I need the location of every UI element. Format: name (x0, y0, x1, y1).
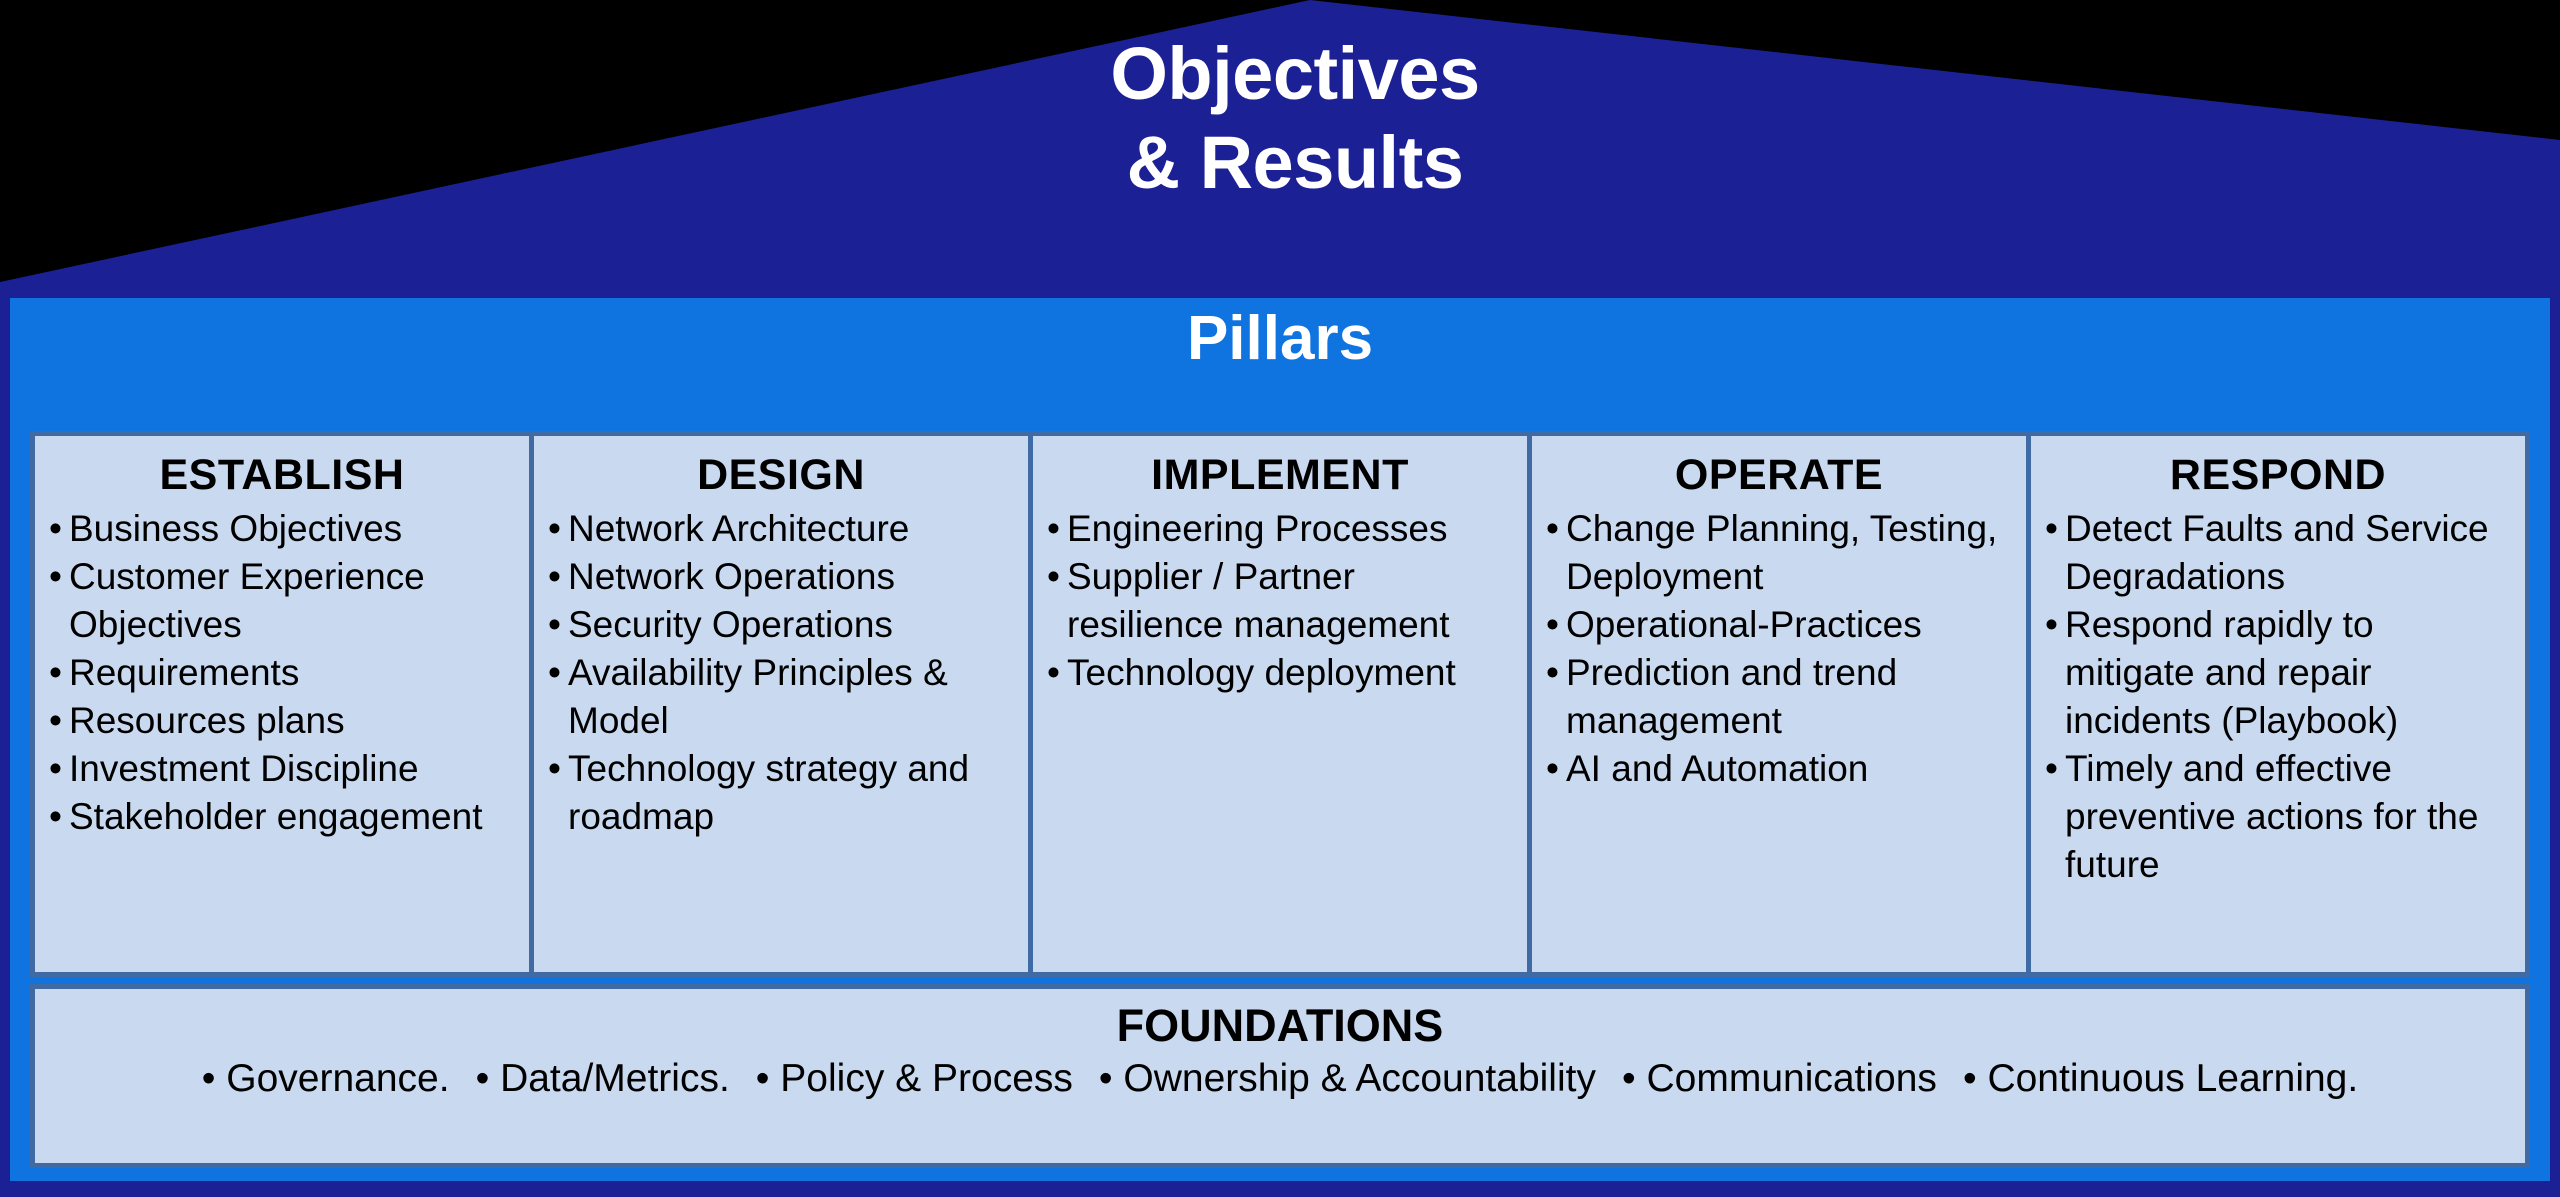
foundation-item: Policy & Process (756, 1054, 1073, 1105)
list-item: Stakeholder engagement (49, 793, 515, 841)
pillar-heading: IMPLEMENT (1047, 450, 1513, 501)
roof-title: Objectives & Results (0, 30, 2560, 208)
list-item: Technology deployment (1047, 649, 1513, 697)
list-item: Resources plans (49, 697, 515, 745)
list-item: Network Architecture (548, 505, 1014, 553)
foundation-item: Continuous Learning. (1963, 1054, 2358, 1105)
list-item: Business Objectives (49, 505, 515, 553)
list-item: Requirements (49, 649, 515, 697)
list-item: Timely and effective preventive actions … (2045, 745, 2511, 889)
list-item: Availability Principles & Model (548, 649, 1014, 745)
list-item: Operational-Practices (1546, 601, 2012, 649)
pillars-title: Pillars (10, 308, 2550, 370)
pillar-heading: DESIGN (548, 450, 1014, 501)
pillar-row: ESTABLISH Business Objectives Customer E… (30, 431, 2530, 977)
foundation-item: Governance. (202, 1054, 450, 1105)
foundation-item: Data/Metrics. (476, 1054, 730, 1105)
roof-title-line-1: Objectives (30, 30, 2560, 119)
list-item: Prediction and trend management (1546, 649, 2012, 745)
foundations-box[interactable]: FOUNDATIONS Governance. Data/Metrics. Po… (30, 984, 2530, 1168)
pillar-item-list: Business Objectives Customer Experience … (49, 505, 515, 842)
list-item: Investment Discipline (49, 745, 515, 793)
list-item: Customer Experience Objectives (49, 553, 515, 649)
roof-shape: Objectives & Results (0, 0, 2560, 292)
pillar-column-design[interactable]: DESIGN Network Architecture Network Oper… (534, 436, 1033, 972)
pillar-column-operate[interactable]: OPERATE Change Planning, Testing, Deploy… (1532, 436, 2031, 972)
roof-title-line-2: & Results (30, 119, 2560, 208)
pillar-item-list: Network Architecture Network Operations … (548, 505, 1014, 842)
house-body: Pillars ESTABLISH Business Objectives Cu… (0, 288, 2560, 1197)
pillar-column-respond[interactable]: RESPOND Detect Faults and Service Degrad… (2031, 436, 2525, 972)
pillar-heading: OPERATE (1546, 450, 2012, 501)
pillar-item-list: Engineering Processes Supplier / Partner… (1047, 505, 1513, 697)
list-item: Security Operations (548, 601, 1014, 649)
house-diagram: Objectives & Results Pillars ESTABLISH B… (0, 0, 2560, 1197)
list-item: Engineering Processes (1047, 505, 1513, 553)
pillar-heading: RESPOND (2045, 450, 2511, 501)
list-item: Respond rapidly to mitigate and repair i… (2045, 601, 2511, 745)
pillar-column-establish[interactable]: ESTABLISH Business Objectives Customer E… (35, 436, 534, 972)
foundations-title: FOUNDATIONS (35, 999, 2525, 1052)
pillar-heading: ESTABLISH (49, 450, 515, 501)
pillar-column-implement[interactable]: IMPLEMENT Engineering Processes Supplier… (1033, 436, 1532, 972)
foundation-item: Communications (1622, 1054, 1937, 1105)
pillar-item-list: Detect Faults and Service Degradations R… (2045, 505, 2511, 890)
foundations-item-list: Governance. Data/Metrics. Policy & Proce… (35, 1054, 2525, 1105)
list-item: Detect Faults and Service Degradations (2045, 505, 2511, 601)
list-item: Technology strategy and roadmap (548, 745, 1014, 841)
list-item: Network Operations (548, 553, 1014, 601)
pillar-item-list: Change Planning, Testing, Deployment Ope… (1546, 505, 2012, 794)
foundation-item: Ownership & Accountability (1099, 1054, 1596, 1105)
list-item: AI and Automation (1546, 745, 2012, 793)
list-item: Supplier / Partner resilience management (1047, 553, 1513, 649)
list-item: Change Planning, Testing, Deployment (1546, 505, 2012, 601)
